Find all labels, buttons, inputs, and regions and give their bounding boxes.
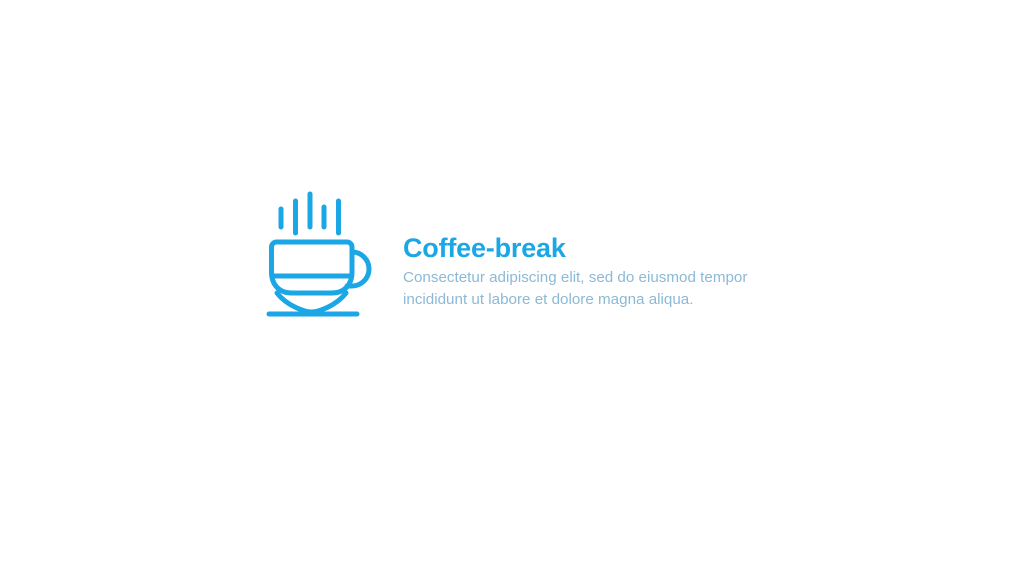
coffee-break-content-block: Coffee-break Consectetur adipiscing elit… [265, 190, 823, 322]
saucer-arc [277, 293, 346, 312]
steam-lines [281, 194, 339, 233]
description-line-1: Consectetur adipiscing elit, sed do eius… [403, 267, 823, 289]
cup-body [272, 242, 353, 293]
page-title: Coffee-break [403, 234, 823, 262]
description-line-2: incididunt ut labore et dolore magna ali… [403, 289, 823, 311]
slide-canvas: Coffee-break Consectetur adipiscing elit… [0, 0, 1024, 576]
text-block: Coffee-break Consectetur adipiscing elit… [403, 190, 823, 311]
coffee-cup-icon [265, 190, 389, 322]
description-paragraph: Consectetur adipiscing elit, sed do eius… [403, 267, 823, 310]
